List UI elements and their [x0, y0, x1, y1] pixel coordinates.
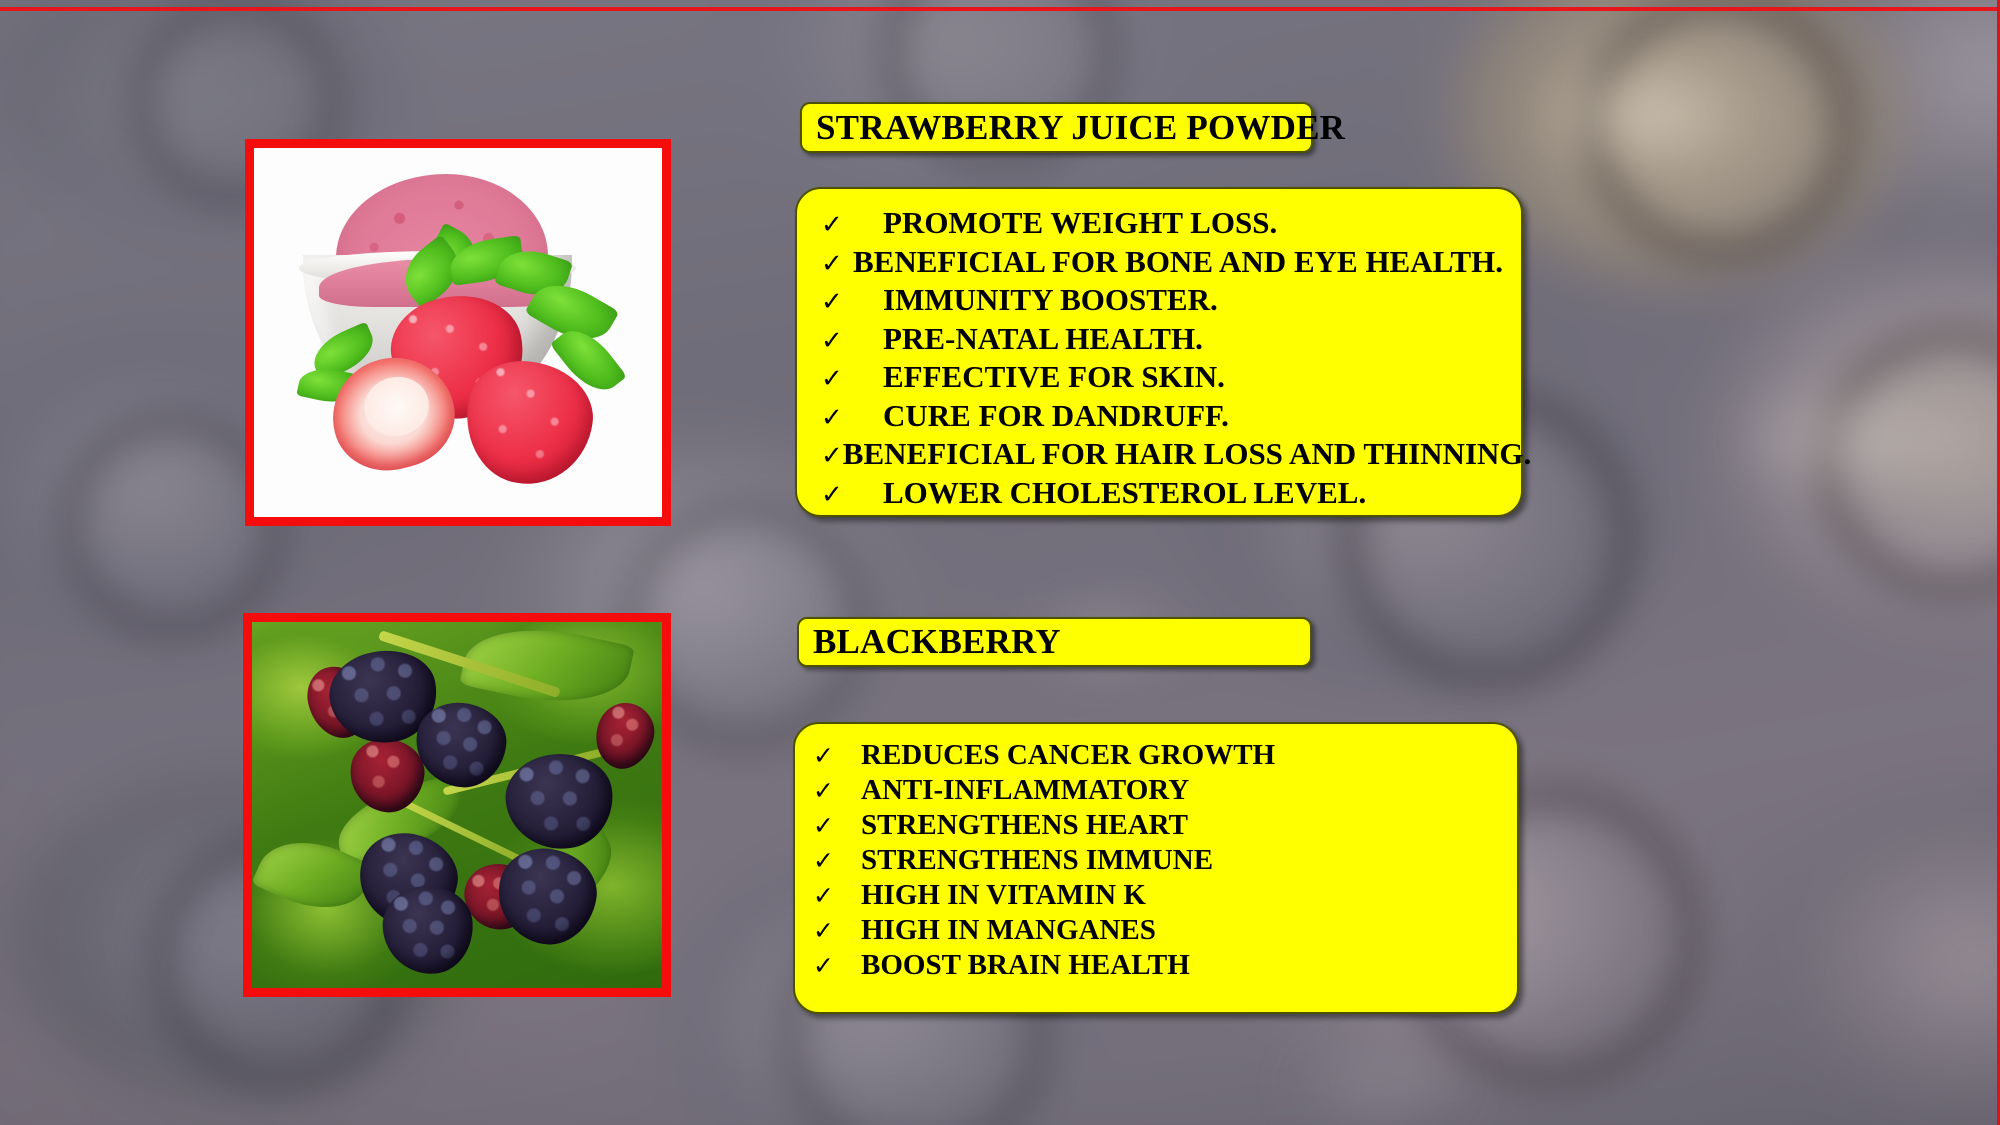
list-item-label: IMMUNITY BOOSTER.: [883, 282, 1218, 318]
page-title-blackberry: BLACKBERRY: [799, 622, 1061, 662]
blackberry-benefits-list: ✓ REDUCES CANCER GROWTH ✓ ANTI-INFLAMMAT…: [813, 738, 1499, 983]
list-item: ✓ REDUCES CANCER GROWTH: [813, 738, 1499, 773]
list-item: ✓ PRE-NATAL HEALTH.: [821, 321, 1503, 360]
strawberry-juice-powder-photo: [254, 148, 662, 517]
check-icon: ✓: [821, 439, 843, 475]
list-item: ✓ PROMOTE WEIGHT LOSS.: [821, 205, 1503, 244]
list-item-label: ANTI-INFLAMMATORY: [861, 773, 1189, 808]
list-item: ✓ STRENGTHENS IMMUNE: [813, 843, 1499, 878]
list-item: ✓ IMMUNITY BOOSTER.: [821, 282, 1503, 321]
strawberry-benefits-box: ✓ PROMOTE WEIGHT LOSS. ✓ BENEFICIAL FOR …: [795, 187, 1523, 517]
list-item-label: HIGH IN MANGANES: [861, 913, 1156, 948]
list-item: ✓ BOOST BRAIN HEALTH: [813, 948, 1499, 983]
strawberry-title-box: STRAWBERRY JUICE POWDER: [800, 102, 1313, 153]
list-item-label: BOOST BRAIN HEALTH: [861, 948, 1190, 983]
check-icon: ✓: [813, 843, 861, 878]
top-red-rule: [0, 7, 2000, 11]
list-item-label: STRENGTHENS HEART: [861, 808, 1188, 843]
list-item: ✓ ANTI-INFLAMMATORY: [813, 773, 1499, 808]
blackberry-title-box: BLACKBERRY: [797, 617, 1312, 667]
check-icon: ✓: [813, 913, 861, 948]
check-icon: ✓: [821, 247, 853, 283]
list-item: ✓ BENEFICIAL FOR HAIR LOSS AND THINNING.: [821, 436, 1503, 475]
check-icon: ✓: [813, 738, 861, 773]
check-icon: ✓: [813, 773, 861, 808]
check-icon: ✓: [821, 285, 883, 321]
list-item: ✓ LOWER CHOLESTEROL LEVEL.: [821, 475, 1503, 514]
check-icon: ✓: [813, 808, 861, 843]
list-item: ✓ CURE FOR DANDRUFF.: [821, 398, 1503, 437]
list-item-label: PRE-NATAL HEALTH.: [883, 321, 1203, 357]
blackberry-photo: [252, 622, 662, 988]
list-item-label: LOWER CHOLESTEROL LEVEL.: [883, 475, 1366, 511]
strawberry-photo-scene: [254, 148, 662, 517]
list-item-label: BENEFICIAL FOR HAIR LOSS AND THINNING.: [843, 436, 1531, 472]
check-icon: ✓: [821, 401, 883, 437]
list-item: ✓ BENEFICIAL FOR BONE AND EYE HEALTH.: [821, 244, 1503, 283]
blackberry-fruit: [380, 882, 476, 976]
check-icon: ✓: [821, 208, 883, 244]
strawberry-image-frame: [245, 139, 671, 526]
list-item-label: BENEFICIAL FOR BONE AND EYE HEALTH.: [853, 244, 1503, 280]
check-icon: ✓: [821, 362, 883, 398]
blackberry-image-frame: [243, 613, 671, 997]
blackberry-photo-scene: [252, 622, 662, 988]
check-icon: ✓: [813, 948, 861, 983]
slide-canvas: STRAWBERRY JUICE POWDER ✓ PROMOTE WEIGHT…: [0, 0, 2000, 1125]
strawberry-benefits-list: ✓ PROMOTE WEIGHT LOSS. ✓ BENEFICIAL FOR …: [821, 205, 1503, 513]
unripe-berry: [587, 695, 662, 777]
list-item: ✓ EFFECTIVE FOR SKIN.: [821, 359, 1503, 398]
list-item-label: PROMOTE WEIGHT LOSS.: [883, 205, 1277, 241]
list-item-label: REDUCES CANCER GROWTH: [861, 738, 1275, 773]
list-item-label: HIGH IN VITAMIN K: [861, 878, 1146, 913]
page-title-strawberry: STRAWBERRY JUICE POWDER: [802, 108, 1345, 148]
list-item: ✓ HIGH IN MANGANES: [813, 913, 1499, 948]
list-item-label: STRENGTHENS IMMUNE: [861, 843, 1213, 878]
list-item: ✓ STRENGTHENS HEART: [813, 808, 1499, 843]
check-icon: ✓: [821, 478, 883, 514]
list-item: ✓ HIGH IN VITAMIN K: [813, 878, 1499, 913]
check-icon: ✓: [813, 878, 861, 913]
blackberry-benefits-box: ✓ REDUCES CANCER GROWTH ✓ ANTI-INFLAMMAT…: [793, 722, 1519, 1014]
list-item-label: EFFECTIVE FOR SKIN.: [883, 359, 1225, 395]
list-item-label: CURE FOR DANDRUFF.: [883, 398, 1229, 434]
check-icon: ✓: [821, 324, 883, 360]
